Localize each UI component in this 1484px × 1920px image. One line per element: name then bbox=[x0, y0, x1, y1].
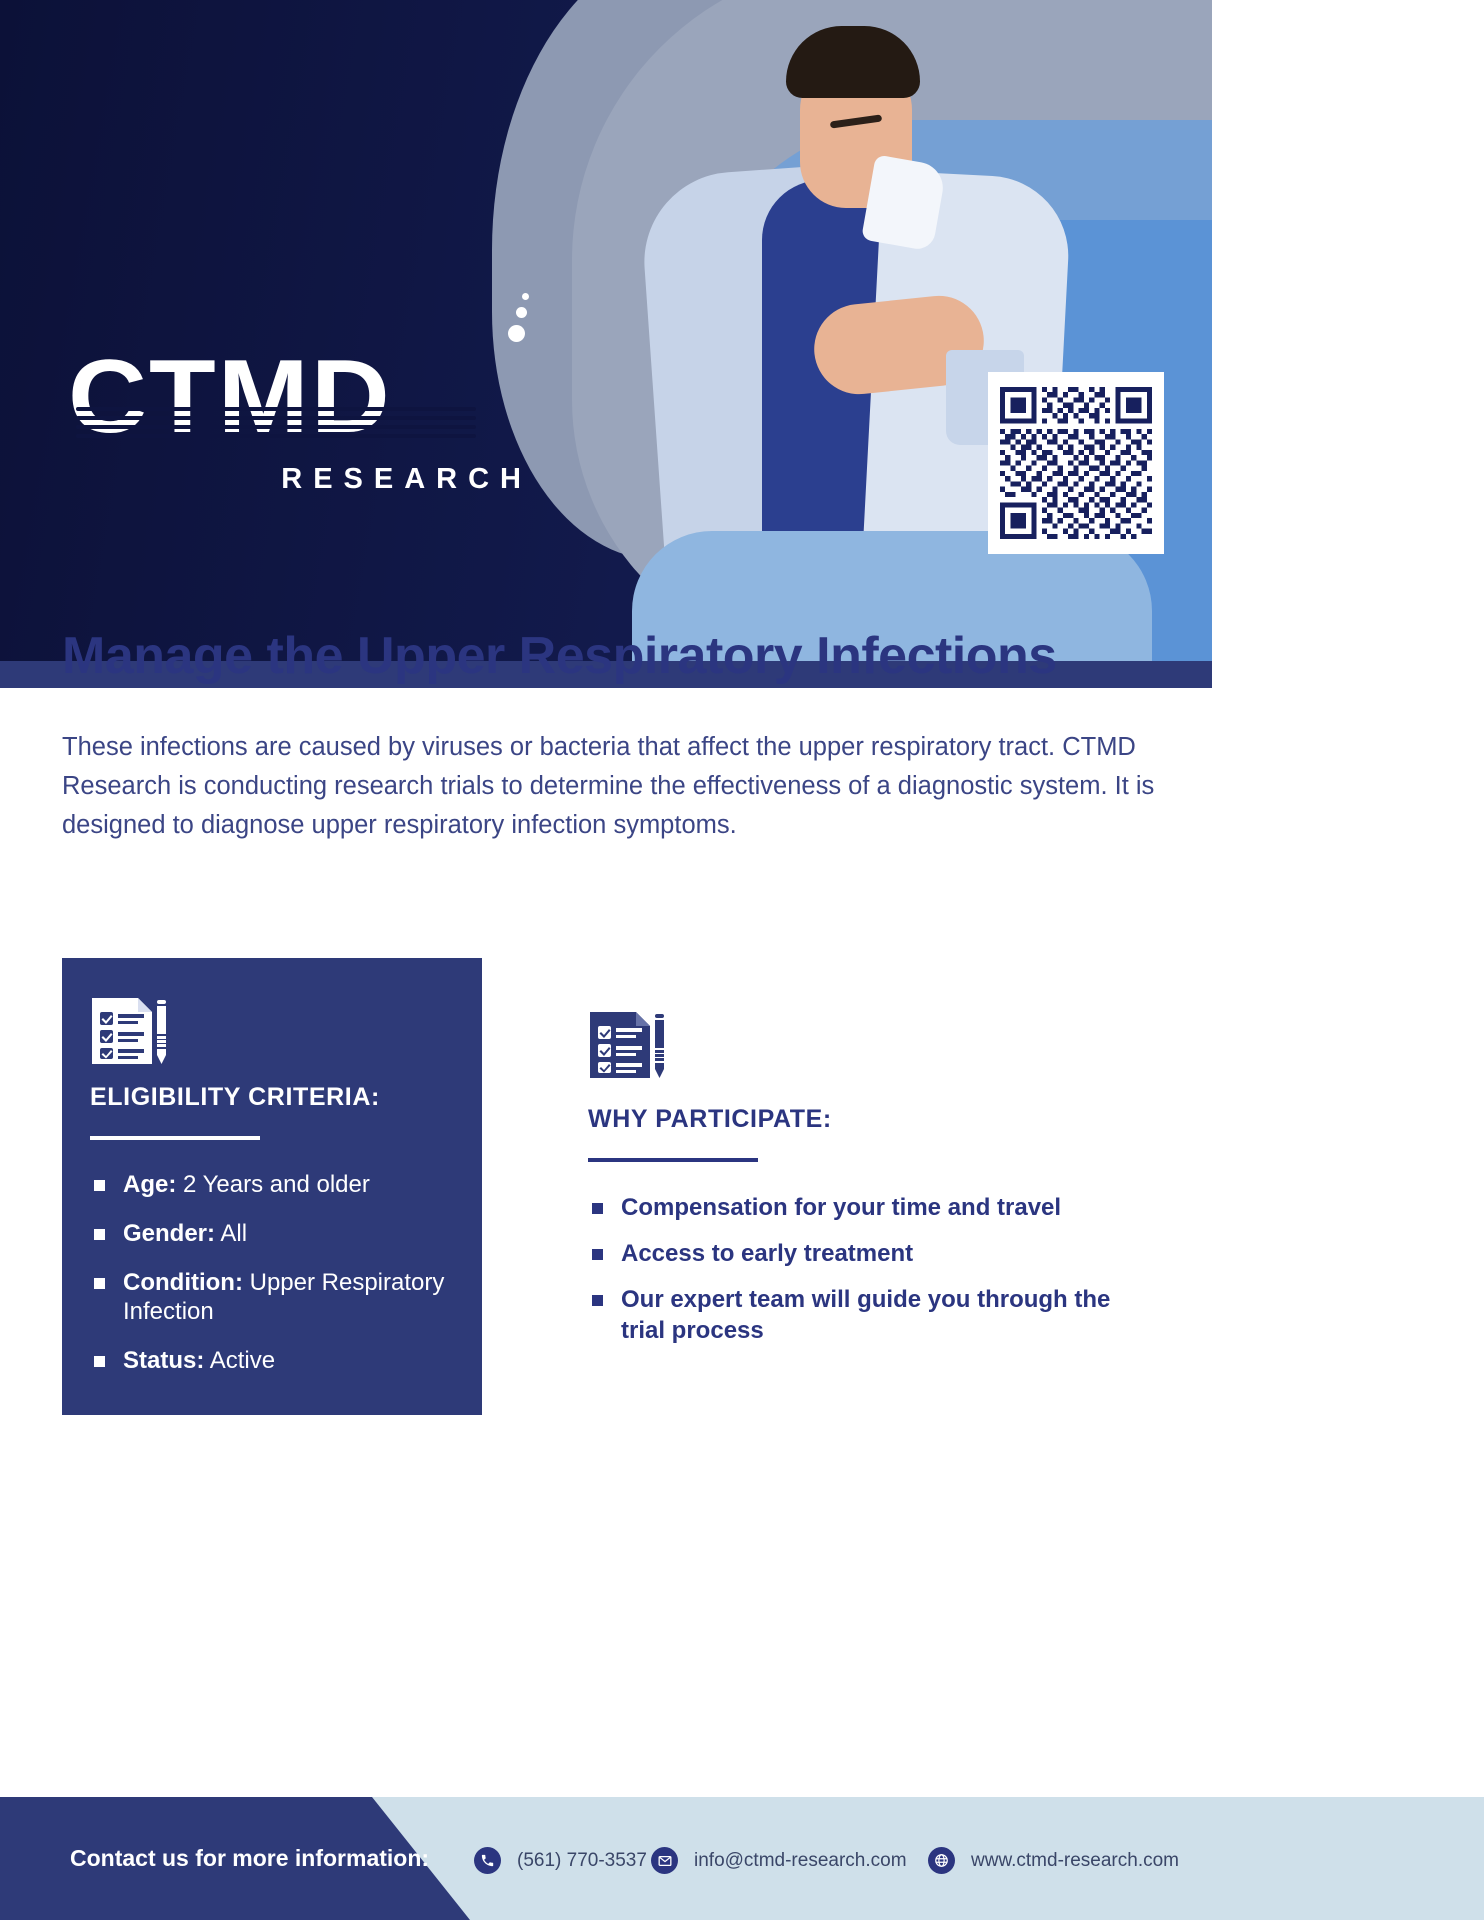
email-icon bbox=[651, 1847, 678, 1874]
eligibility-heading: ELIGIBILITY CRITERIA: bbox=[90, 1083, 380, 1112]
eligibility-item-label: Condition: bbox=[123, 1269, 243, 1296]
eligibility-item-value: All bbox=[215, 1220, 247, 1247]
phone-icon bbox=[474, 1847, 501, 1874]
globe-icon bbox=[928, 1847, 955, 1874]
checklist-clipboard-pencil-icon bbox=[588, 1010, 666, 1085]
flyer-page: CTMD RESEARCH bbox=[0, 0, 1212, 1920]
ctmd-logo: CTMD RESEARCH bbox=[68, 345, 538, 496]
header-banner: CTMD RESEARCH bbox=[0, 0, 1212, 661]
footer-contact-label: Contact us for more information: bbox=[70, 1845, 429, 1872]
footer: Contact us for more information: (561) 7… bbox=[0, 1797, 1484, 1920]
eligibility-item-label: Status: bbox=[123, 1347, 204, 1374]
checklist-clipboard-pencil-icon bbox=[90, 996, 168, 1071]
contact-email[interactable]: info@ctmd-research.com bbox=[651, 1847, 907, 1874]
eligibility-item-value: Active bbox=[204, 1347, 275, 1374]
contact-phone[interactable]: (561) 770-3537 bbox=[474, 1847, 647, 1874]
list-item: Our expert team will guide you through t… bbox=[588, 1285, 1128, 1345]
email-address: info@ctmd-research.com bbox=[694, 1850, 907, 1872]
eligibility-criteria-card: ELIGIBILITY CRITERIA: Age: 2 Years and o… bbox=[62, 958, 482, 1415]
logo-dots-icon bbox=[508, 293, 529, 349]
list-item: Status: Active bbox=[90, 1346, 460, 1376]
list-item: Age: 2 Years and older bbox=[90, 1170, 460, 1200]
eligibility-divider bbox=[90, 1136, 260, 1140]
intro-paragraph: These infections are caused by viruses o… bbox=[62, 728, 1157, 844]
eligibility-list: Age: 2 Years and older Gender: All Condi… bbox=[90, 1170, 460, 1395]
contact-website[interactable]: www.ctmd-research.com bbox=[928, 1847, 1179, 1874]
logo-subtitle: RESEARCH bbox=[68, 463, 538, 496]
list-item: Compensation for your time and travel bbox=[588, 1193, 1128, 1223]
website-url: www.ctmd-research.com bbox=[971, 1850, 1179, 1872]
list-item: Access to early treatment bbox=[588, 1239, 1128, 1269]
eligibility-item-label: Gender: bbox=[123, 1220, 215, 1247]
qr-code-image bbox=[1000, 384, 1152, 542]
phone-number: (561) 770-3537 bbox=[517, 1850, 647, 1872]
qr-code[interactable] bbox=[988, 372, 1164, 554]
list-item: Condition: Upper Respiratory Infection bbox=[90, 1268, 460, 1328]
logo-wordmark: CTMD bbox=[68, 345, 562, 449]
eligibility-item-label: Age: bbox=[123, 1171, 176, 1198]
eligibility-item-value: 2 Years and older bbox=[176, 1171, 370, 1198]
page-gutter bbox=[1212, 0, 1484, 1920]
why-participate-list: Compensation for your time and travel Ac… bbox=[588, 1193, 1128, 1362]
why-participate-heading: WHY PARTICIPATE: bbox=[588, 1105, 832, 1134]
list-item: Gender: All bbox=[90, 1219, 460, 1249]
page-title: Manage the Upper Respiratory Infections bbox=[62, 628, 1162, 685]
why-participate-divider bbox=[588, 1158, 758, 1162]
